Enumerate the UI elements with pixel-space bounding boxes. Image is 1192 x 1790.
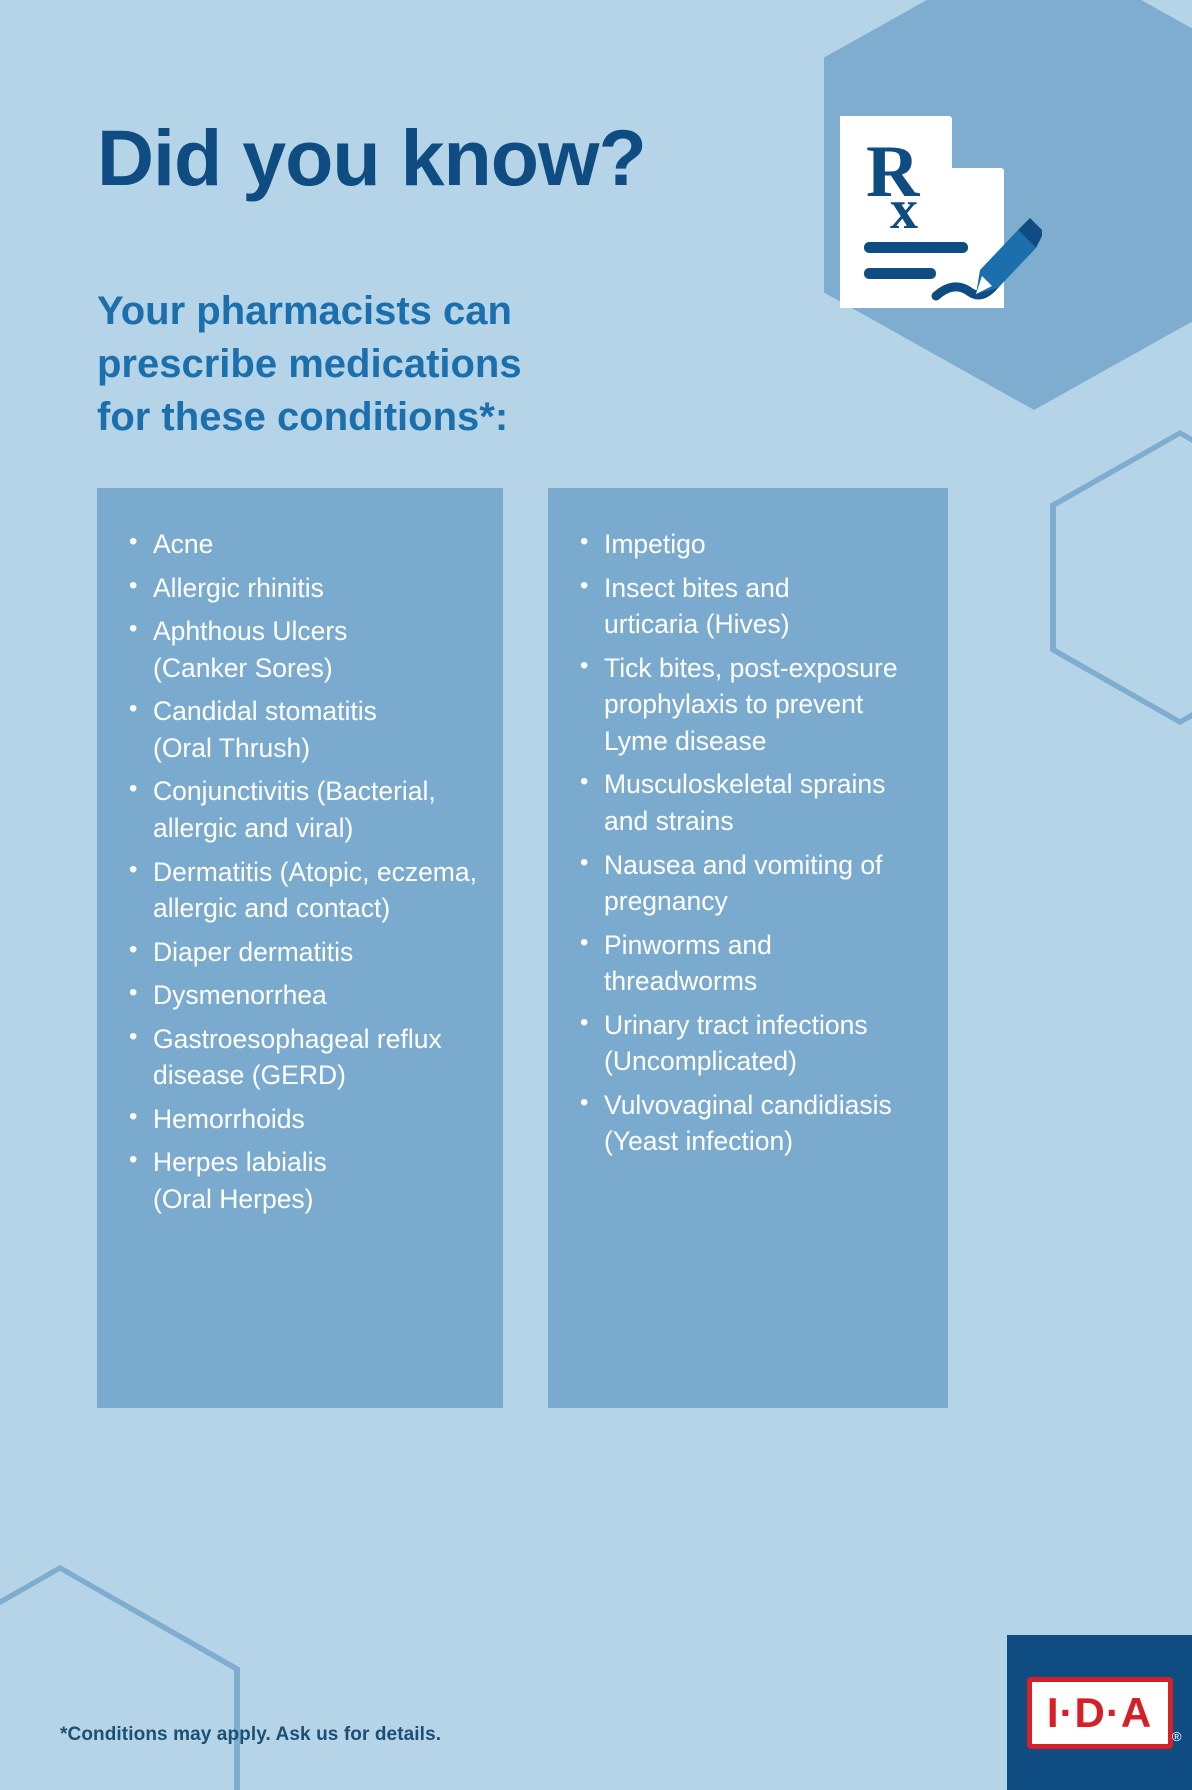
list-item: Herpes labialis (Oral Herpes) xyxy=(127,1144,479,1217)
conditions-list-left: Acne Allergic rhinitis Aphthous Ulcers (… xyxy=(127,526,479,1218)
list-item: Allergic rhinitis xyxy=(127,570,479,607)
list-item: Acne xyxy=(127,526,479,563)
hexagon-outline-decoration-bottom-left xyxy=(0,1565,240,1790)
list-item: Pinworms and threadworms xyxy=(578,927,924,1000)
list-item: Conjunctivitis (Bacterial, allergic and … xyxy=(127,773,479,846)
list-item: Insect bites and urticaria (Hives) xyxy=(578,570,924,643)
hexagon-outline-decoration-right xyxy=(1050,430,1192,725)
list-item: Hemorrhoids xyxy=(127,1101,479,1138)
ida-logo: I·D·A ® xyxy=(1007,1635,1192,1790)
registered-trademark-icon: ® xyxy=(1172,1729,1182,1744)
list-item: Vulvovaginal candidiasis (Yeast infectio… xyxy=(578,1087,924,1160)
conditions-card-left: Acne Allergic rhinitis Aphthous Ulcers (… xyxy=(97,488,503,1408)
ida-logo-mark: I·D·A ® xyxy=(1027,1677,1173,1749)
rx-prescription-icon: R x xyxy=(832,110,1042,325)
conditions-list-right: Impetigo Insect bites and urticaria (Hiv… xyxy=(578,526,924,1160)
list-item: Gastroesophageal reflux disease (GERD) xyxy=(127,1021,479,1094)
list-item: Impetigo xyxy=(578,526,924,563)
list-item: Diaper dermatitis xyxy=(127,934,479,971)
list-item: Nausea and vomiting of pregnancy xyxy=(578,847,924,920)
list-item: Musculoskeletal sprains and strains xyxy=(578,766,924,839)
page-title: Did you know? xyxy=(97,118,646,197)
list-item: Candidal stomatitis (Oral Thrush) xyxy=(127,693,479,766)
list-item: Aphthous Ulcers (Canker Sores) xyxy=(127,613,479,686)
ida-logo-text: I·D·A xyxy=(1047,1692,1152,1734)
list-item: Urinary tract infections (Uncomplicated) xyxy=(578,1007,924,1080)
page-subtitle: Your pharmacists can prescribe medicatio… xyxy=(97,285,522,443)
svg-text:x: x xyxy=(890,179,918,241)
disclaimer-text: *Conditions may apply. Ask us for detail… xyxy=(60,1724,441,1746)
list-item: Dysmenorrhea xyxy=(127,977,479,1014)
list-item: Dermatitis (Atopic, eczema, allergic and… xyxy=(127,854,479,927)
poster: R x Did you know? Your pharmacists can p… xyxy=(0,0,1192,1790)
list-item: Tick bites, post-exposure prophylaxis to… xyxy=(578,650,924,760)
conditions-card-right: Impetigo Insect bites and urticaria (Hiv… xyxy=(548,488,948,1408)
